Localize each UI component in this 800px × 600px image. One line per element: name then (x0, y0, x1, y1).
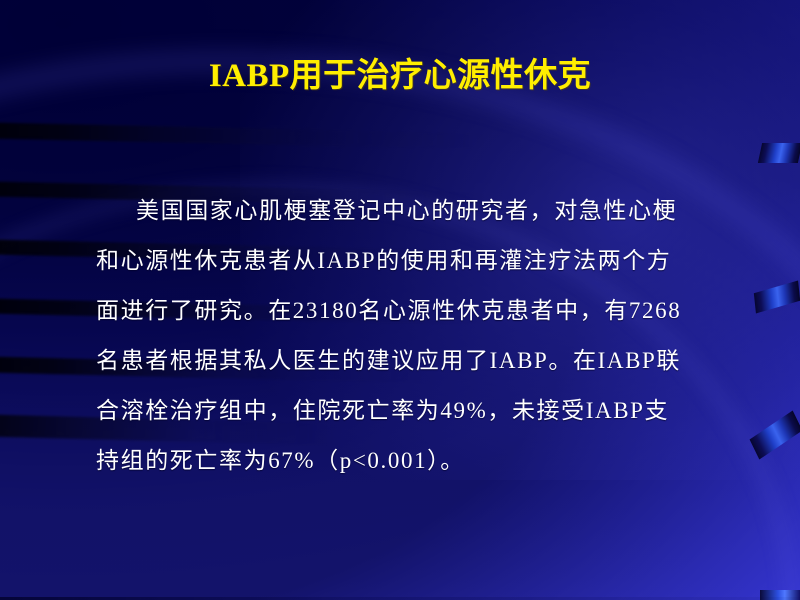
slide-body-text: 美国国家心肌梗塞登记中心的研究者，对急性心梗 和心源性休克患者从IABP的使用和… (96, 186, 760, 486)
slide-content: IABP用于治疗心源性休克 美国国家心肌梗塞登记中心的研究者，对急性心梗 和心源… (0, 0, 800, 600)
body-line-6: 持组的死亡率为67%（p<0.001）。 (96, 436, 760, 486)
body-line-5: 合溶栓治疗组中，住院死亡率为49%，未接受IABP支 (96, 386, 760, 436)
body-line-1: 美国国家心肌梗塞登记中心的研究者，对急性心梗 (96, 186, 760, 236)
presentation-slide: IABP用于治疗心源性休克 美国国家心肌梗塞登记中心的研究者，对急性心梗 和心源… (0, 0, 800, 600)
body-line-2: 和心源性休克患者从IABP的使用和再灌注疗法两个方 (96, 236, 760, 286)
body-line-3: 面进行了研究。在23180名心源性休克患者中，有7268 (96, 286, 760, 336)
body-line-4: 名患者根据其私人医生的建议应用了IABP。在IABP联 (96, 336, 760, 386)
slide-title: IABP用于治疗心源性休克 (0, 48, 800, 96)
